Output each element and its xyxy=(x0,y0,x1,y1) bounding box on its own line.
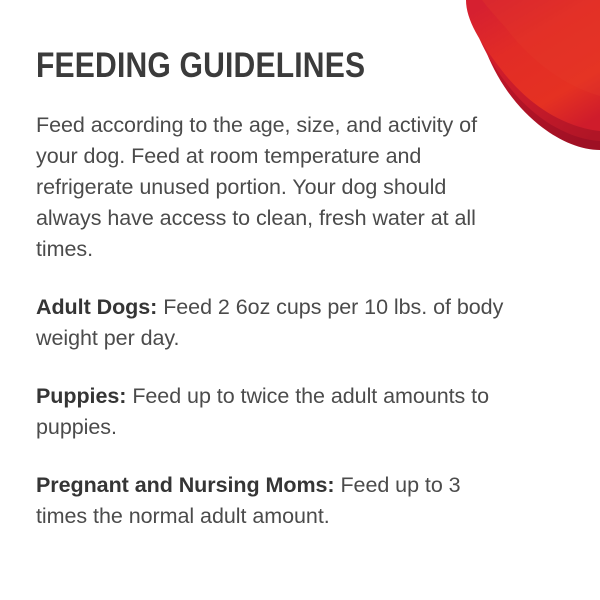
section-label-adult-dogs: Adult Dogs: xyxy=(36,295,157,319)
feeding-section-puppies: Puppies: Feed up to twice the adult amou… xyxy=(36,381,508,443)
page-title: FEEDING GUIDELINES xyxy=(36,0,440,84)
feeding-guidelines-panel: FEEDING GUIDELINES Feed according to the… xyxy=(0,0,600,600)
guidelines-content: FEEDING GUIDELINES Feed according to the… xyxy=(36,0,506,532)
section-label-puppies: Puppies: xyxy=(36,384,126,408)
section-label-pregnant-nursing-moms: Pregnant and Nursing Moms: xyxy=(36,473,335,497)
feeding-section-pregnant-nursing-moms: Pregnant and Nursing Moms: Feed up to 3 … xyxy=(36,470,508,532)
feeding-section-adult-dogs: Adult Dogs: Feed 2 6oz cups per 10 lbs. … xyxy=(36,292,508,354)
intro-paragraph: Feed according to the age, size, and act… xyxy=(36,110,502,265)
